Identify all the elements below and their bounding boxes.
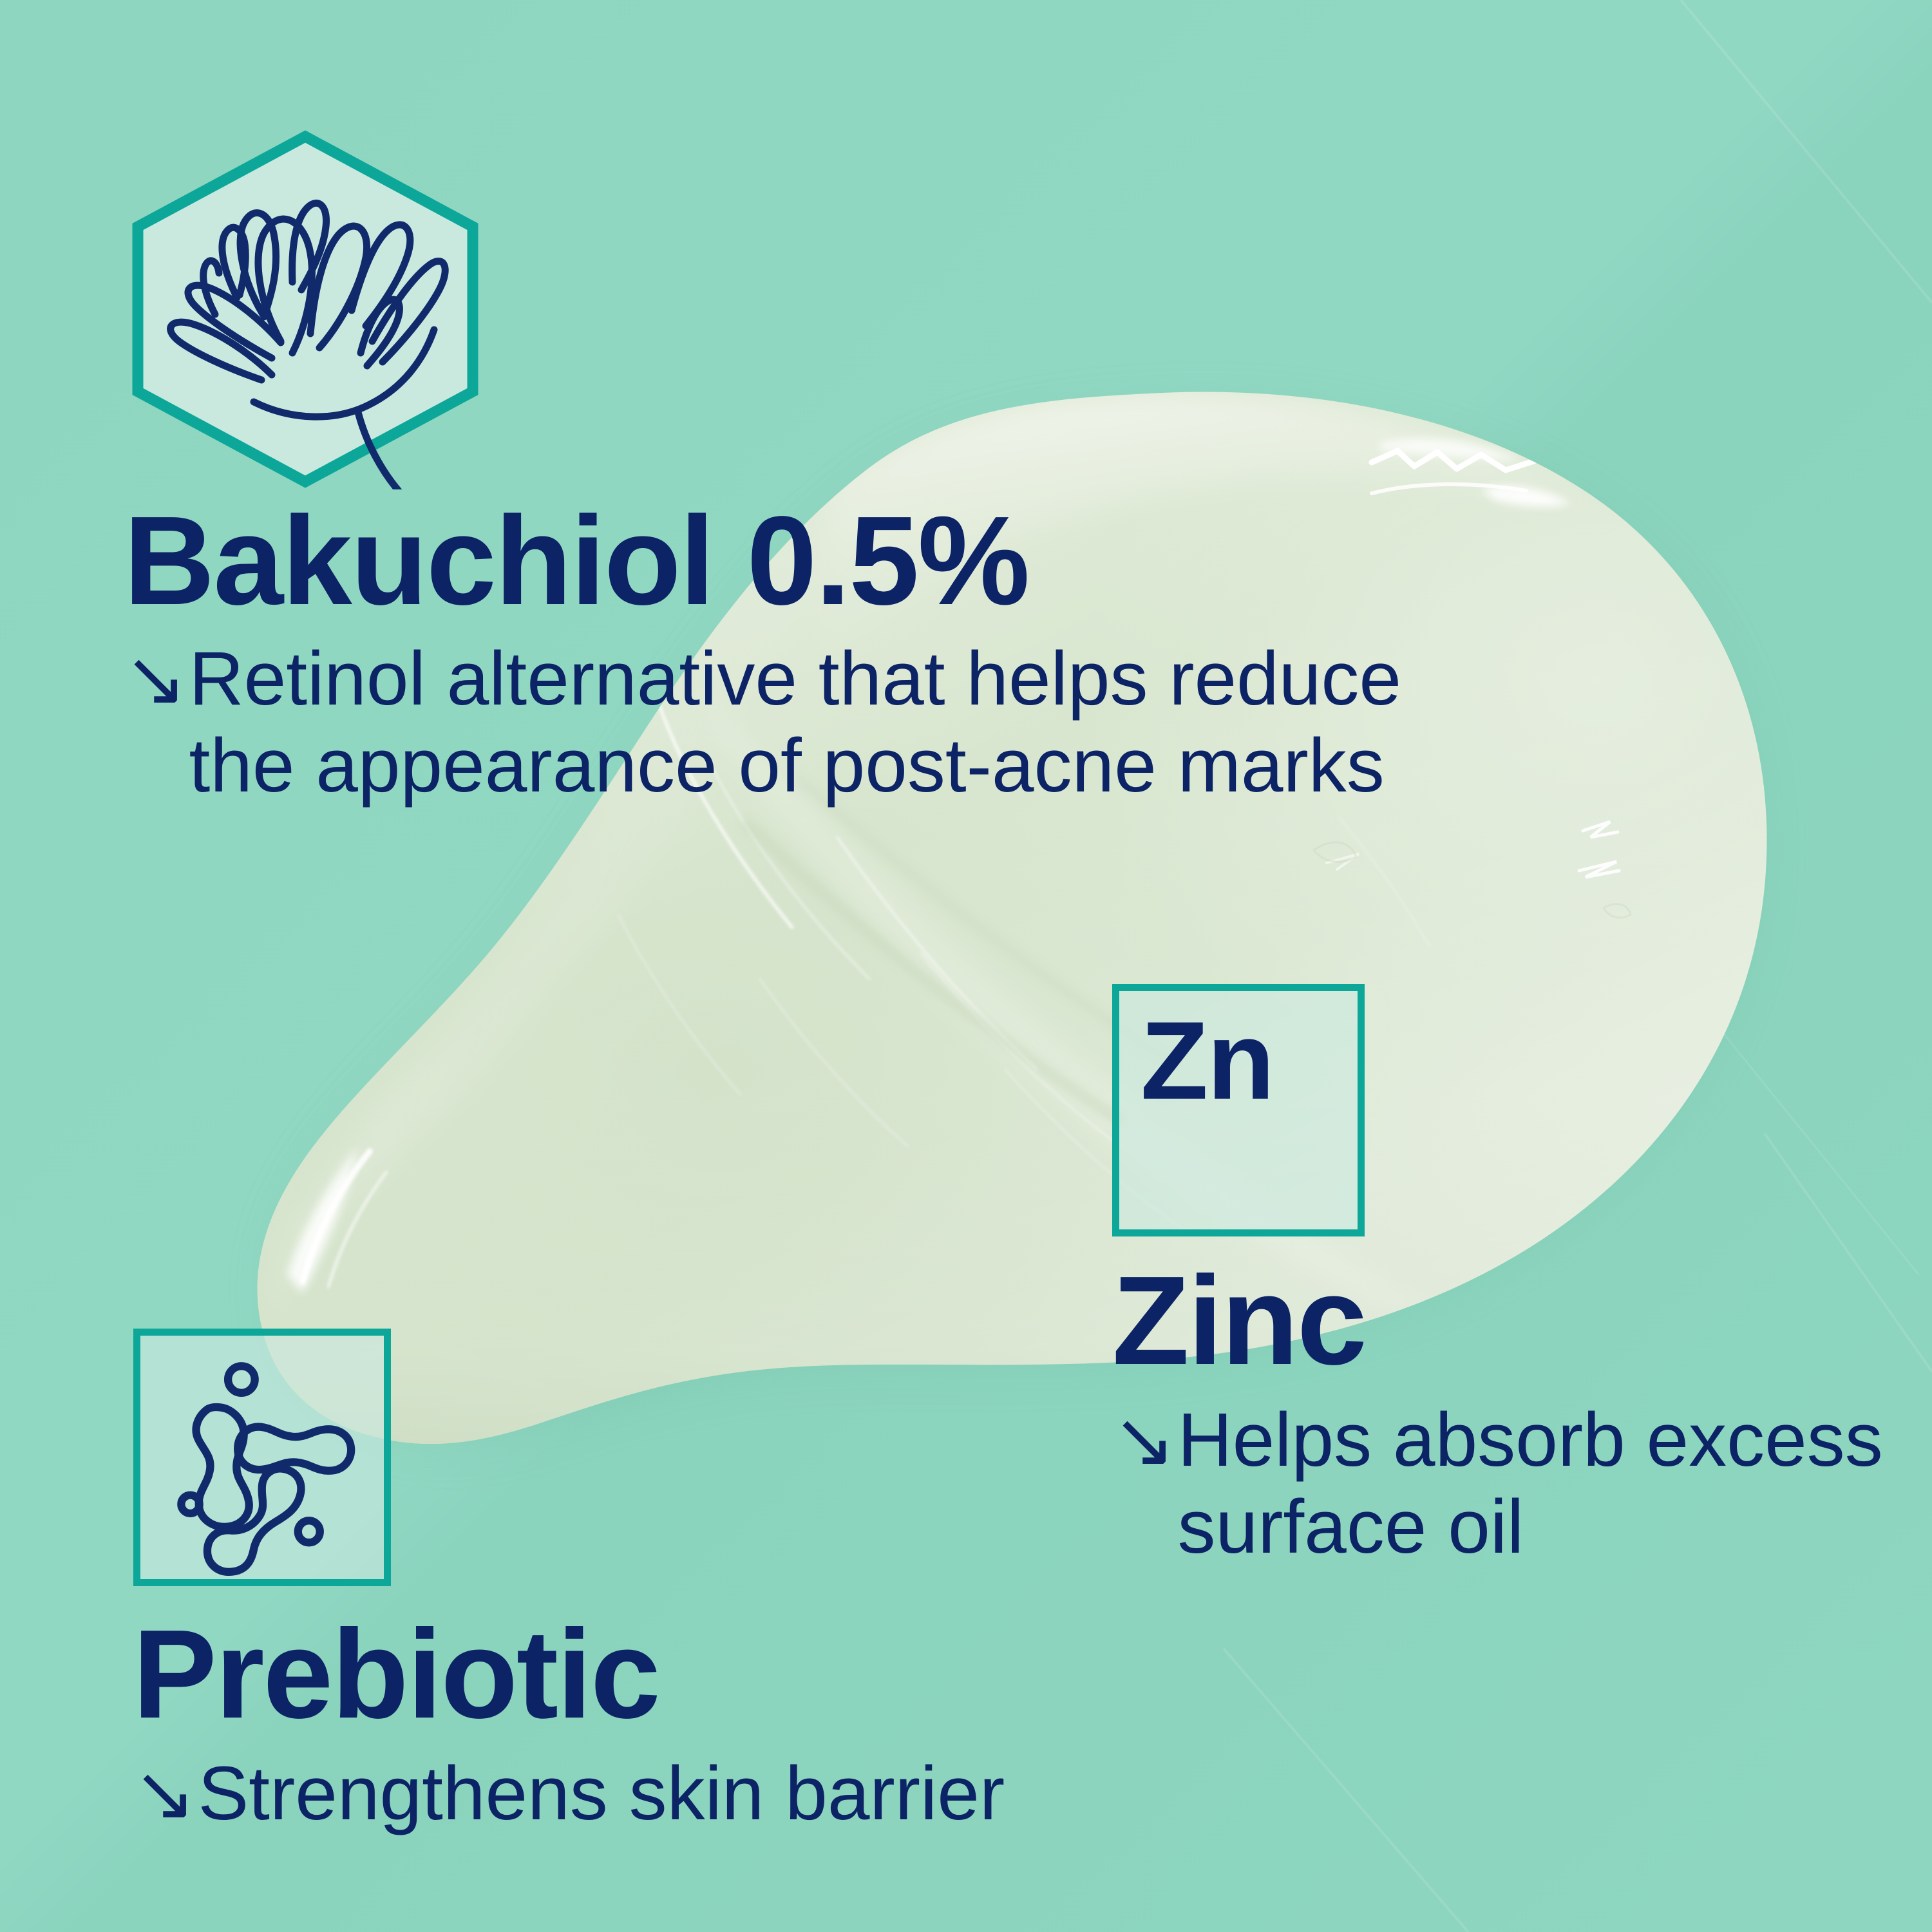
infographic-canvas: Zn Bakuchiol 0.5% ↘Retinol alternative t… <box>0 0 1932 1932</box>
down-right-arrow-icon: ↘ <box>1112 1397 1167 1484</box>
hexagon-badge-shape <box>126 129 484 489</box>
bacteria-icon <box>140 1336 384 1579</box>
bakuchiol-description-line2: the appearance of post-acne marks <box>124 723 1401 810</box>
zinc-description-line2: surface oil <box>1112 1484 1883 1571</box>
badge-bakuchiol <box>126 129 484 489</box>
down-right-arrow-icon: ↘ <box>133 1750 187 1837</box>
zinc-description: ↘Helps absorb excesssurface oil <box>1112 1397 1883 1570</box>
element-symbol-zn: Zn <box>1141 1005 1274 1116</box>
zinc-description-line1: Helps absorb excess <box>1177 1397 1882 1482</box>
zinc-heading: Zinc <box>1112 1259 1883 1383</box>
ingredient-block-bakuchiol: Bakuchiol 0.5% ↘Retinol alternative that… <box>124 499 1401 809</box>
badge-zinc: Zn <box>1112 984 1365 1236</box>
ingredient-block-prebiotic: Prebiotic ↘Strengthens skin barrier <box>133 1613 1005 1837</box>
down-right-arrow-icon: ↘ <box>124 636 178 723</box>
badge-prebiotic <box>133 1329 391 1586</box>
bakuchiol-description: ↘Retinol alternative that helps reduceth… <box>124 636 1401 809</box>
prebiotic-heading: Prebiotic <box>133 1613 1005 1736</box>
prebiotic-description-line1: Strengthens skin barrier <box>198 1751 1005 1836</box>
bakuchiol-heading: Bakuchiol 0.5% <box>124 499 1401 623</box>
bakuchiol-description-line1: Retinol alternative that helps reduce <box>189 636 1401 721</box>
ingredient-block-zinc: Zinc ↘Helps absorb excesssurface oil <box>1112 1259 1883 1570</box>
prebiotic-description: ↘Strengthens skin barrier <box>133 1750 1005 1837</box>
